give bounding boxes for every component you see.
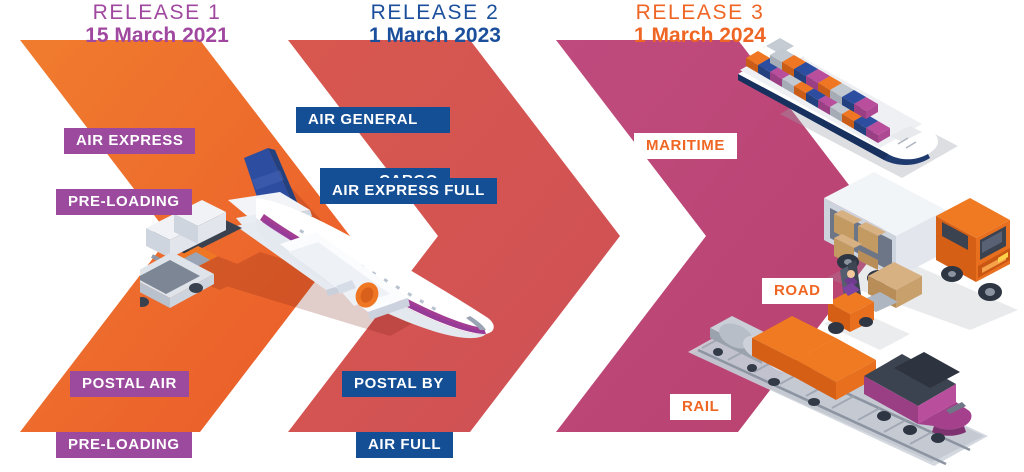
release-1-label: RELEASE 1 xyxy=(22,2,292,24)
badge-road-line1: ROAD xyxy=(762,278,833,304)
badge-rail-line1: RAIL xyxy=(670,394,731,420)
badge-air-express-pre-loading-line1: AIR EXPRESS xyxy=(64,128,195,154)
badge-postal-by-air-full-line1: POSTAL BY xyxy=(342,371,456,397)
badge-maritime-line1: MARITIME xyxy=(634,133,737,159)
release-1-date: 15 March 2021 xyxy=(22,25,292,47)
release-2-label: RELEASE 2 xyxy=(300,2,570,24)
badge-postal-air-pre-loading-line2: PRE-LOADING xyxy=(56,432,192,458)
badge-rail[interactable]: RAIL xyxy=(670,359,731,455)
release-2-date: 1 March 2023 xyxy=(300,25,570,47)
badge-postal-air-pre-loading[interactable]: POSTAL AIR PRE-LOADING xyxy=(56,336,192,472)
badge-air-general-cargo-line1: AIR GENERAL xyxy=(296,107,450,133)
badge-road[interactable]: ROAD xyxy=(762,243,833,339)
badge-air-express-pre-loading-line2: PRE-LOADING xyxy=(56,189,192,215)
release-2-header: RELEASE 2 1 March 2023 xyxy=(300,2,570,47)
badge-postal-by-air-full-line2: AIR FULL xyxy=(356,432,453,458)
badge-air-express-full-line1: AIR EXPRESS FULL xyxy=(320,178,497,204)
release-1-header: RELEASE 1 15 March 2021 xyxy=(22,2,292,47)
badge-maritime[interactable]: MARITIME xyxy=(634,98,737,194)
badge-postal-by-air-full[interactable]: POSTAL BY AIR FULL xyxy=(342,336,456,472)
badge-air-express-pre-loading[interactable]: AIR EXPRESS PRE-LOADING xyxy=(56,93,195,251)
infographic-canvas: RELEASE 1 15 March 2021 RELEASE 2 1 Marc… xyxy=(0,0,1024,472)
freight-train-illustration xyxy=(688,280,1024,472)
badge-air-express-full[interactable]: AIR EXPRESS FULL xyxy=(320,143,497,239)
badge-postal-air-pre-loading-line1: POSTAL AIR xyxy=(70,371,189,397)
container-ship-illustration xyxy=(722,18,972,193)
